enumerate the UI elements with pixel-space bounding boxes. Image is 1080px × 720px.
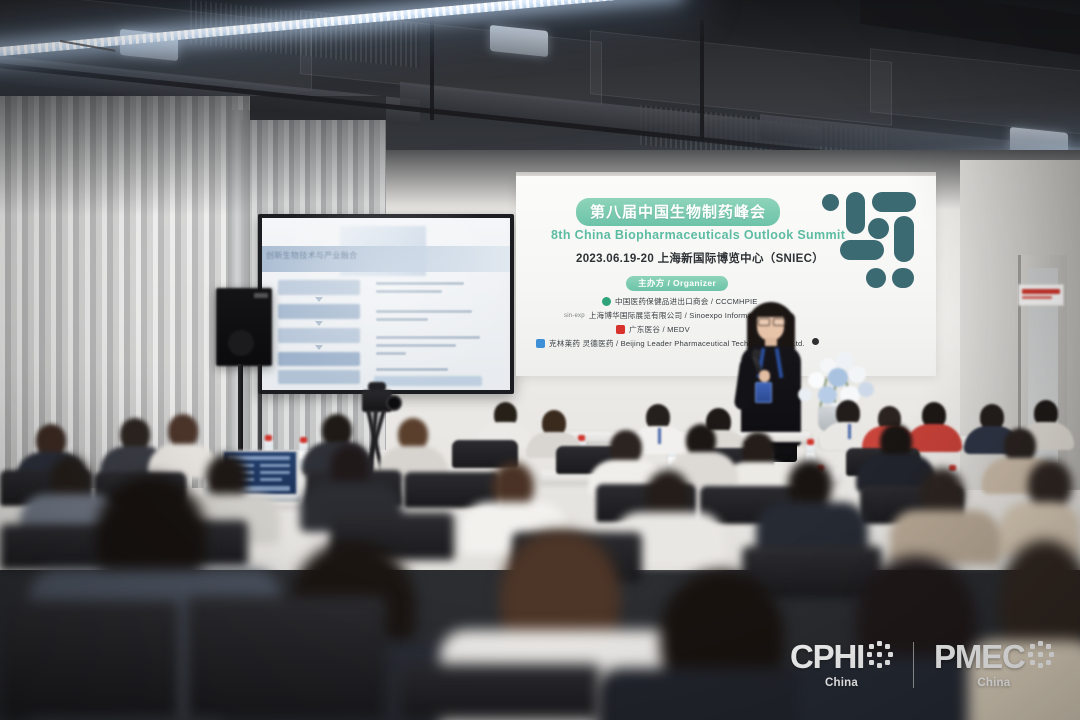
sinoexpo-logo-icon: sin-exp [564,313,585,319]
medv-cross-icon [616,325,625,334]
glasses-icon [758,318,783,324]
leader-square-icon [536,339,545,348]
curtain-shadow [0,96,386,216]
speaker-stand [238,364,243,458]
circle-green-icon [602,297,611,306]
cphi-wordmark: CPHI [790,640,864,673]
badge [755,382,772,403]
organizer-text: 广东医谷 / MEDV [629,324,690,335]
cphi-logo: CPHI China [790,640,893,689]
wall-notice-sign [1018,284,1064,306]
event-logo-overlay: CPHI China PMEC [790,640,1062,702]
event-banner: 第八届中国生物制药峰会 8th China Biopharmaceuticals… [516,176,936,376]
chair-back [400,664,600,720]
dot-cluster-icon [1028,641,1054,667]
microphone-boom-tip [812,338,819,345]
pmec-logo: PMEC China [934,640,1054,689]
banner-organizer-label: 主办方 / Organizer [626,276,728,291]
conference-photo: 创新生物技术与产业融合 第八届中国生物制药峰会 8th China Biopha… [0,0,1080,720]
summit-abstract-mark [822,190,918,298]
cphi-region: China [825,677,858,689]
projection-screen: 创新生物技术与产业融合 [258,214,514,394]
chair-back [0,600,180,720]
speaker-stand [258,364,262,454]
pa-speaker [216,288,272,366]
chair-back [186,596,386,720]
camera-lens-icon [386,395,402,411]
banner-title-en: 8th China Biopharmaceuticals Outlook Sum… [551,228,845,242]
organizer-row: 广东医谷 / MEDV [616,324,690,335]
logo-divider [913,642,914,688]
banner-date-venue: 2023.06.19-20 上海新国际博览中心（SNIEC） [576,250,824,266]
pmec-region: China [977,677,1010,689]
pmec-wordmark: PMEC [934,640,1025,673]
dot-cluster-icon [867,641,893,667]
banner-title-cn: 第八届中国生物制药峰会 [576,198,780,226]
